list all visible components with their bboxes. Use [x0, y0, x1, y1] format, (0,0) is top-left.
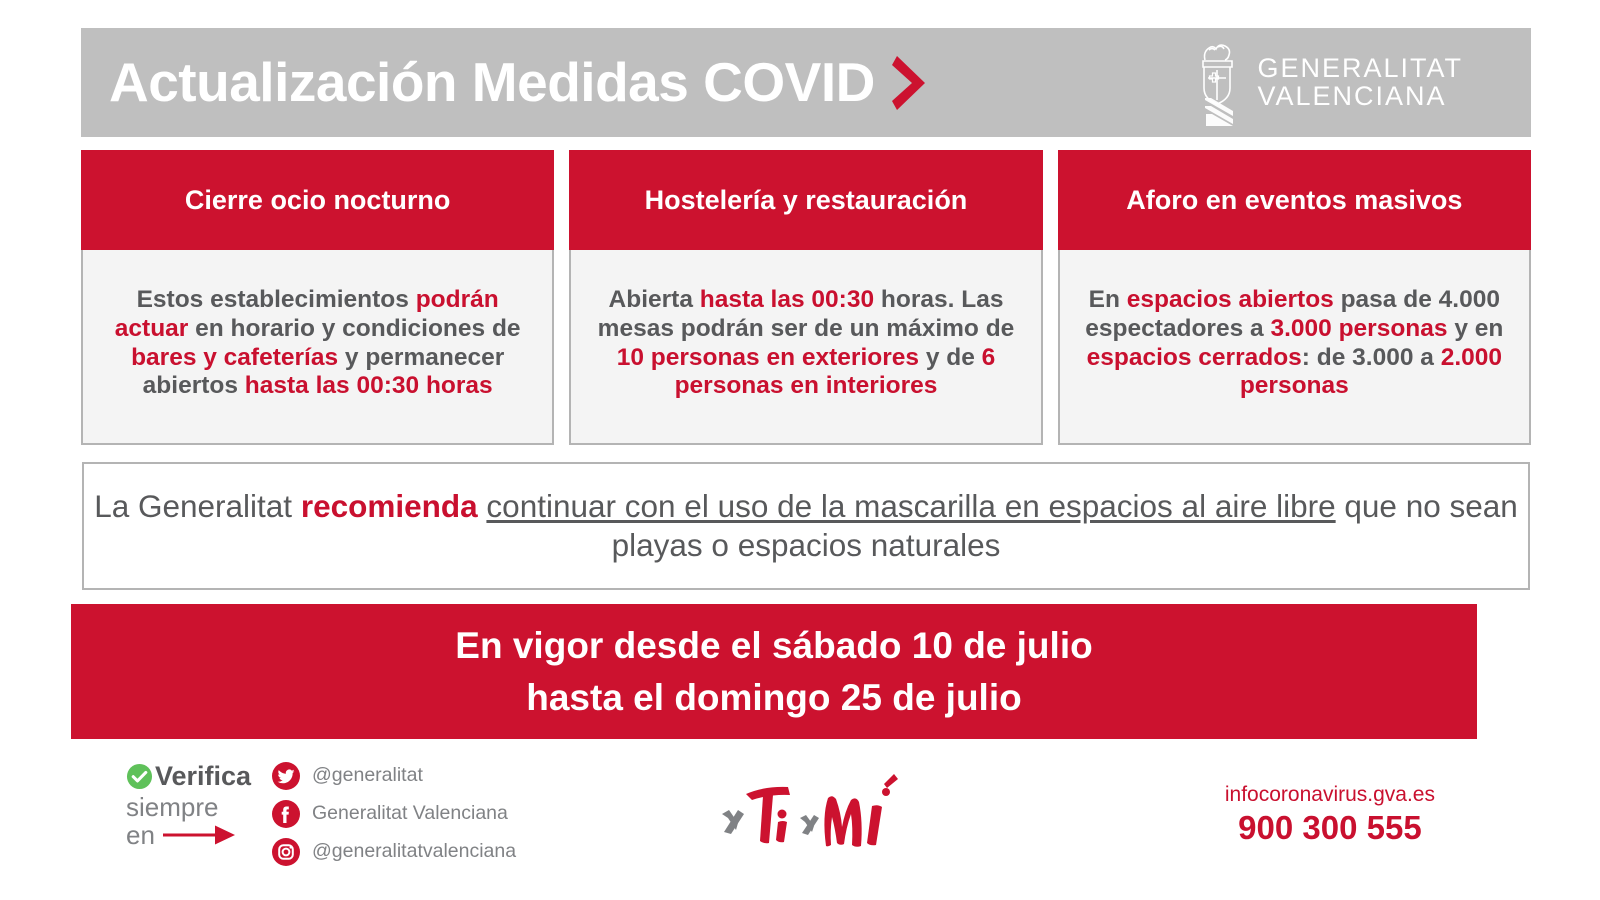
highlighted-phrase: espacios cerrados — [1087, 344, 1302, 371]
recommendation-phrase: continuar con el uso de la mascarilla en… — [486, 488, 1335, 524]
highlighted-phrase: bares y cafeterías — [131, 344, 338, 371]
social-link-twitter[interactable]: @generalitat — [272, 762, 516, 790]
twitter-icon[interactable] — [272, 762, 300, 790]
recommendation-phrase: La Generalitat — [94, 488, 301, 524]
social-handle[interactable]: Generalitat Valenciana — [312, 804, 508, 824]
social-link-facebook[interactable]: Generalitat Valenciana — [272, 800, 516, 828]
card-body: Abierta hasta las 00:30 horas. Las mesas… — [569, 250, 1042, 445]
validity-period-banner: En vigor desde el sábado 10 de julio has… — [71, 604, 1477, 739]
contact-website[interactable]: infocoronavirus.gva.es — [1225, 783, 1435, 807]
contact-block: infocoronavirus.gva.es 900 300 555 — [1225, 783, 1435, 848]
card-text: En espacios abiertos pasa de 4.000 espec… — [1074, 286, 1515, 402]
logo-line-2: VALENCIANA — [1257, 83, 1463, 111]
card-body: Estos establecimientos podrán actuar en … — [81, 250, 554, 445]
page-title: Actualización Medidas COVID — [109, 55, 875, 110]
generalitat-valenciana-logo: GENERALITAT VALENCIANA — [1191, 40, 1505, 126]
highlighted-phrase: hasta las 00:30 — [700, 286, 874, 313]
card-title: Cierre ocio nocturno — [81, 150, 554, 250]
header-banner: Actualización Medidas COVID — [81, 28, 1531, 137]
plain-phrase: Estos establecimientos — [137, 286, 416, 313]
social-handle[interactable]: @generalitatvalenciana — [312, 842, 516, 862]
highlighted-phrase: hasta las 00:30 horas — [245, 372, 493, 399]
card-text: Abierta hasta las 00:30 horas. Las mesas… — [585, 286, 1026, 402]
green-check-badge-icon — [126, 763, 153, 790]
plain-phrase: y en — [1448, 315, 1504, 342]
card-title: Aforo en eventos masivos — [1058, 150, 1531, 250]
card-title: Hostelería y restauración — [569, 150, 1042, 250]
x-ti-x-mi-logo — [716, 762, 912, 862]
highlighted-phrase: 10 personas en exteriores — [617, 344, 919, 371]
plain-phrase: y de — [919, 344, 982, 371]
card-body: En espacios abiertos pasa de 4.000 espec… — [1058, 250, 1531, 445]
verify-subline: siempre — [126, 793, 276, 821]
infographic-page: Actualización Medidas COVID — [0, 0, 1600, 900]
plain-phrase: Abierta — [609, 286, 700, 313]
card-hosteleria-y-restauracion: Hostelería y restauración Abierta hasta … — [569, 150, 1042, 445]
header-title-group: Actualización Medidas COVID — [109, 54, 931, 112]
recommendation-text: La Generalitat recomienda continuar con … — [84, 487, 1528, 565]
card-aforo-en-eventos-masivos: Aforo en eventos masivos En espacios abi… — [1058, 150, 1531, 445]
logo-line-1: GENERALITAT — [1257, 55, 1463, 83]
generalitat-valenciana-crest-icon — [1191, 40, 1243, 126]
social-links-list: @generalitat Generalitat Valenciana @gen… — [272, 762, 516, 866]
recommendation-phrase: recomienda — [301, 488, 478, 524]
recommendation-panel: La Generalitat recomienda continuar con … — [82, 462, 1530, 590]
contact-phone[interactable]: 900 300 555 — [1225, 808, 1435, 848]
plain-phrase: en horario y condiciones de — [188, 315, 520, 342]
verify-label: Verifica — [155, 763, 251, 790]
logo-wordmark: GENERALITAT VALENCIANA — [1257, 55, 1463, 110]
card-text: Estos establecimientos podrán actuar en … — [97, 286, 538, 402]
highlighted-phrase: espacios abiertos — [1127, 286, 1334, 313]
validity-line-2: hasta el domingo 25 de julio — [455, 672, 1092, 723]
arrow-right-icon — [163, 822, 235, 848]
verify-block: Verifica siempre en — [126, 763, 276, 848]
validity-period-text: En vigor desde el sábado 10 de julio has… — [455, 620, 1092, 722]
footer: Verifica siempre en @generalitat — [0, 750, 1600, 890]
highlighted-phrase: 3.000 personas — [1270, 315, 1447, 342]
verify-arrow-line: en — [126, 822, 276, 848]
verify-headline: Verifica — [126, 763, 276, 790]
instagram-icon[interactable] — [272, 838, 300, 866]
social-handle[interactable]: @generalitat — [312, 766, 423, 786]
validity-line-1: En vigor desde el sábado 10 de julio — [455, 620, 1092, 671]
verify-en-label: en — [126, 822, 155, 848]
social-link-instagram[interactable]: @generalitatvalenciana — [272, 838, 516, 866]
plain-phrase: : de 3.000 a — [1302, 344, 1441, 371]
card-cierre-ocio-nocturno: Cierre ocio nocturno Estos establecimien… — [81, 150, 554, 445]
measures-card-group: Cierre ocio nocturno Estos establecimien… — [81, 150, 1531, 445]
chevron-right-icon — [891, 54, 931, 112]
facebook-icon[interactable] — [272, 800, 300, 828]
plain-phrase: En — [1089, 286, 1127, 313]
